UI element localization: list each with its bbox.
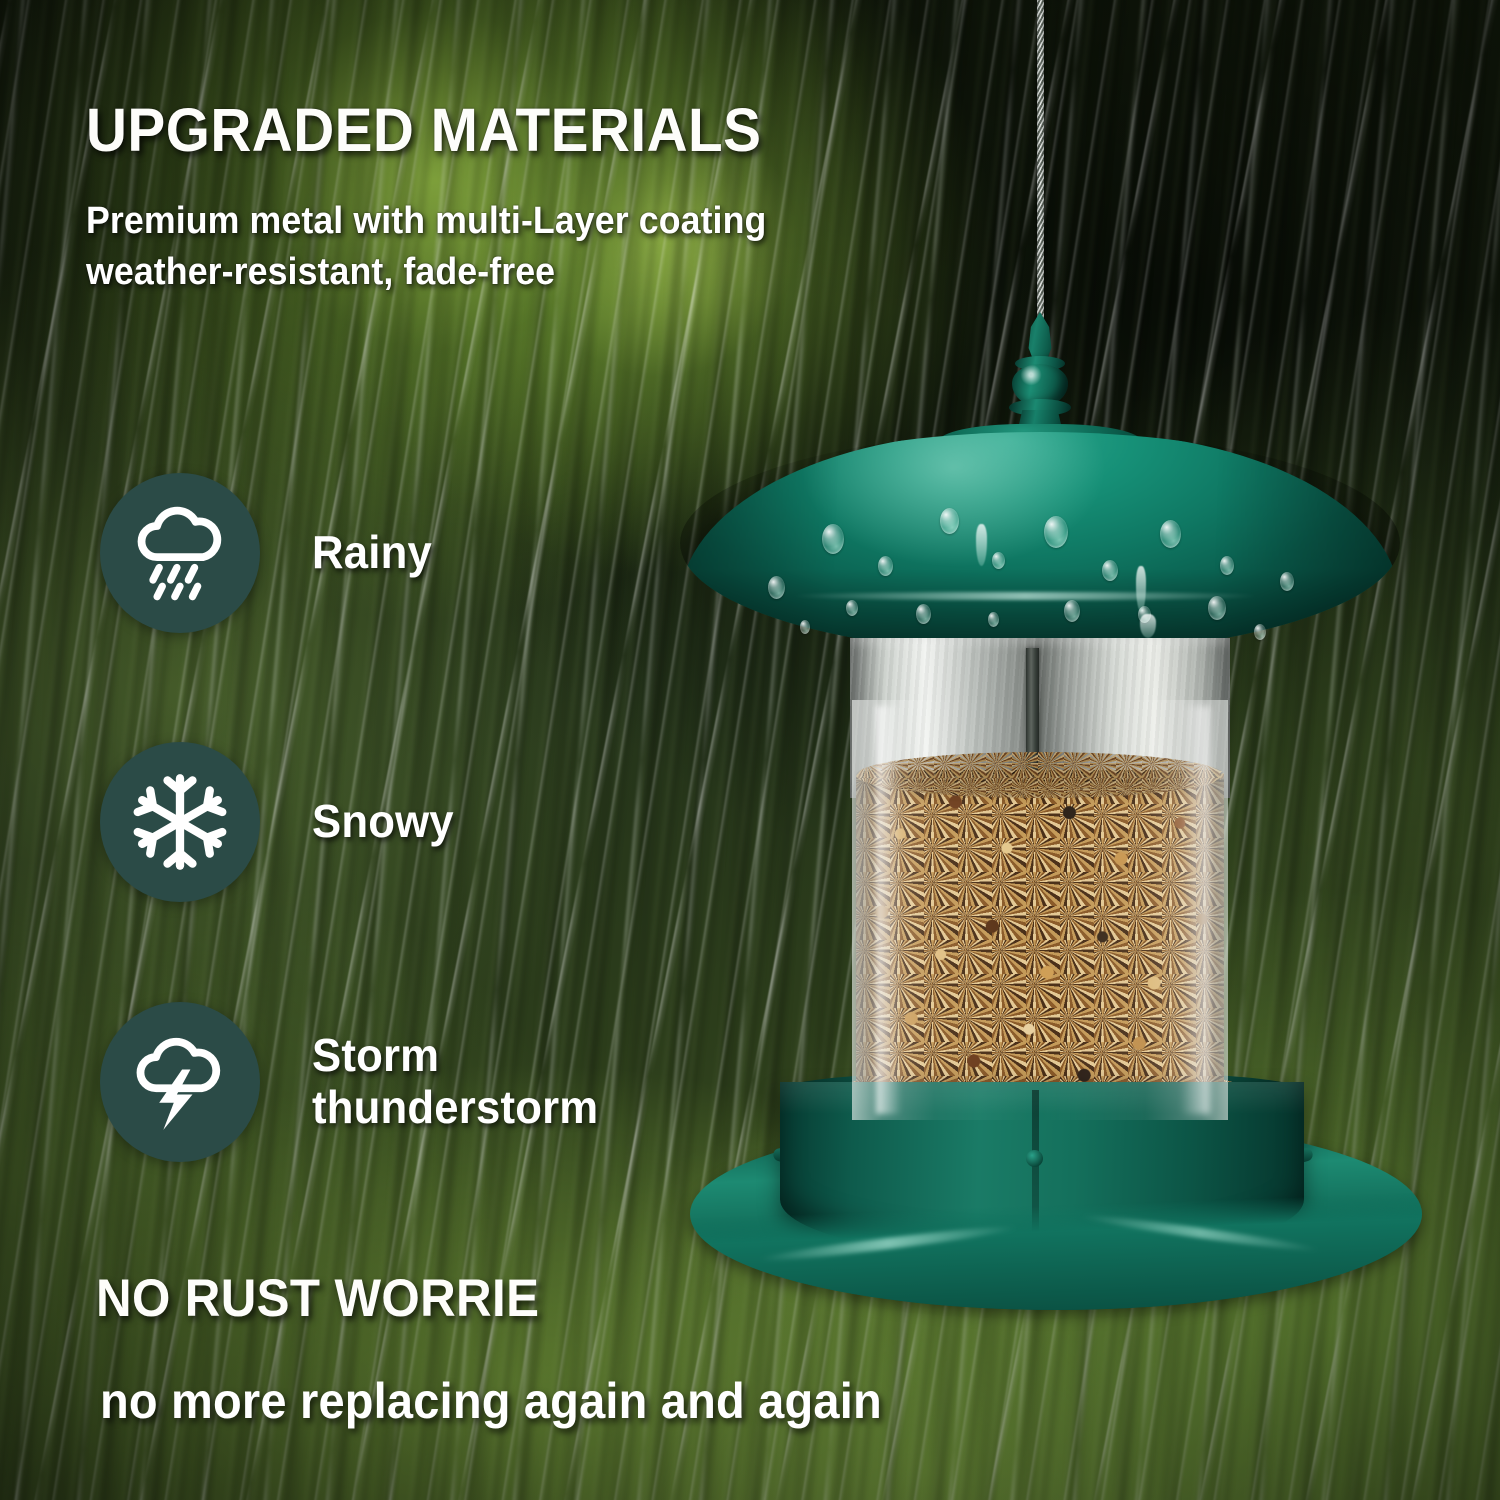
perch-ring-front [690,1118,1422,1310]
footer-subline: no more replacing again and again [100,1372,882,1430]
feature-label-snowy: Snowy [312,796,454,848]
seed-surface [856,752,1224,798]
feature-badge-storm [100,1002,260,1162]
feature-badge-rainy [100,473,260,633]
feature-badge-snowy [100,742,260,902]
thunderstorm-cloud-icon [128,1030,232,1134]
tube-highlight-left [876,706,902,1114]
feature-item-rainy: Rainy [100,473,438,633]
finial-tip [1021,312,1059,362]
bird-seed-mix [856,770,1224,1125]
feature-label-rainy: Rainy [312,527,432,579]
hanging-cable [1037,0,1044,330]
feature-label-storm: Storm thunderstorm [312,1030,598,1133]
snowflake-icon [128,770,232,874]
hanging-bird-feeder [640,0,1440,1330]
roof-shading [680,432,1400,654]
feature-item-snowy: Snowy [100,742,461,902]
tube-highlight-right [1180,706,1210,1114]
footer-headline: NO RUST WORRIE [96,1268,539,1329]
product-infographic: UPGRADED MATERIALS Premium metal with mu… [0,0,1500,1500]
feature-item-storm: Storm thunderstorm [100,1002,613,1162]
rain-cloud-icon [128,501,232,605]
roof-highlight-line [790,592,1260,600]
